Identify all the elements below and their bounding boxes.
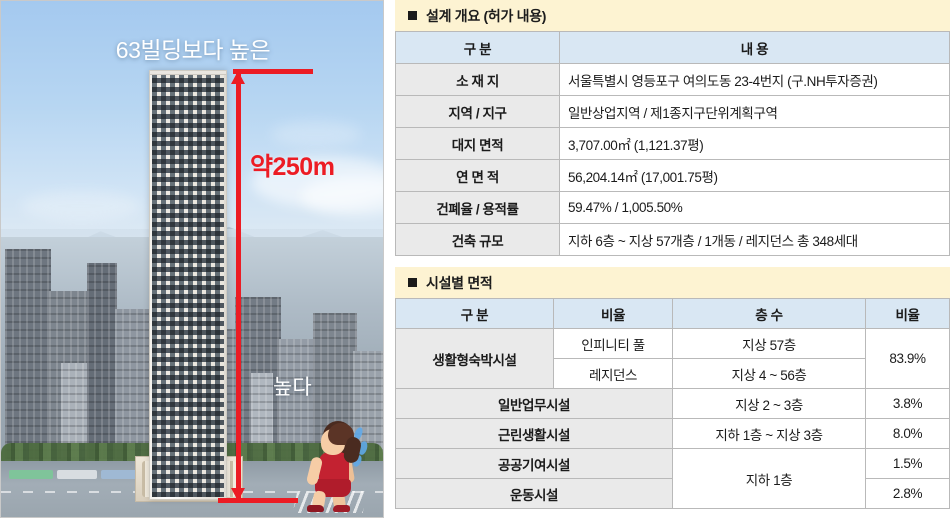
height-measure-line (236, 71, 241, 501)
table-row: 생활형숙박시설 인피니티 풀 지상 57층 83.9% (396, 329, 950, 359)
table-row: 근린생활시설 지하 1층 ~ 지상 3층 8.0% (396, 419, 950, 449)
table-row: 대지 면적 3,707.00㎡ (1,121.37평) (396, 128, 950, 160)
table-row: 공공기여시설 지하 1층 1.5% (396, 449, 950, 479)
tall-caption: 높다 (273, 371, 312, 401)
table-row: 건축 규모 지하 6층 ~ 지상 57개층 / 1개동 / 레지던스 총 348… (396, 224, 950, 256)
row-floors: 지상 57층 (673, 329, 866, 359)
render-headline: 63빌딩보다 높은 (1, 31, 384, 65)
row-label-facility: 생활형숙박시설 (396, 329, 554, 389)
table-row: 연 면 적 56,204.14㎡ (17,001.75평) (396, 160, 950, 192)
row-value: 59.47% / 1,005.50% (560, 192, 950, 224)
row-label-facility: 근린생활시설 (396, 419, 673, 449)
row-ratio: 8.0% (866, 419, 950, 449)
row-floors: 지상 2 ~ 3층 (673, 389, 866, 419)
tower-roof (150, 71, 226, 75)
row-label: 건폐율 / 용적률 (396, 192, 560, 224)
background-building (87, 263, 117, 459)
row-value: 서울특별시 영등포구 여의도동 23-4번지 (구.NH투자증권) (560, 64, 950, 96)
girl-shoe-back (333, 505, 350, 512)
row-label-facility: 공공기여시설 (396, 449, 673, 479)
girl-shoe-front (307, 505, 324, 512)
background-building (5, 249, 51, 459)
row-value: 3,707.00㎡ (1,121.37평) (560, 128, 950, 160)
row-ratio: 3.8% (866, 389, 950, 419)
background-building (115, 309, 149, 459)
table-row: 소 재 지 서울특별시 영등포구 여의도동 23-4번지 (구.NH투자증권) (396, 64, 950, 96)
row-label: 지역 / 지구 (396, 96, 560, 128)
col-header-subtype: 비율 (554, 299, 673, 329)
cartoon-girl (301, 419, 369, 515)
col-header-category: 구 분 (396, 32, 560, 64)
height-top-tick (233, 69, 313, 74)
row-value: 56,204.14㎡ (17,001.75평) (560, 160, 950, 192)
col-header-category: 구 분 (396, 299, 554, 329)
row-ratio: 2.8% (866, 479, 950, 509)
arrow-up-icon (231, 71, 245, 84)
row-floors: 지하 1층 (673, 449, 866, 509)
design-overview-title: 설계 개요 (허가 내용) (426, 6, 546, 26)
table-header-row: 구 분 내 용 (396, 32, 950, 64)
table-header-row: 구 분 비율 층 수 비율 (396, 299, 950, 329)
height-bottom-tick (218, 498, 298, 503)
design-overview-heading: 설계 개요 (허가 내용) (395, 0, 950, 31)
facility-area-table: 구 분 비율 층 수 비율 생활형숙박시설 인피니티 풀 지상 57층 83.9… (395, 298, 950, 509)
section-gap (395, 256, 950, 267)
col-header-content: 내 용 (560, 32, 950, 64)
facility-area-heading: 시설별 면적 (395, 267, 950, 298)
row-label: 건축 규모 (396, 224, 560, 256)
bullet-square-icon (408, 278, 417, 287)
info-tables-panel: 설계 개요 (허가 내용) 구 분 내 용 소 재 지 서울특별시 영등포구 여… (384, 0, 950, 518)
row-floors: 지상 4 ~ 56층 (673, 359, 866, 389)
row-ratio: 1.5% (866, 449, 950, 479)
bus (9, 470, 53, 479)
height-label: 약250m (250, 147, 334, 183)
facility-area-title: 시설별 면적 (426, 273, 493, 293)
row-value: 지하 6층 ~ 지상 57개층 / 1개동 / 레지던스 총 348세대 (560, 224, 950, 256)
table-row: 일반업무시설 지상 2 ~ 3층 3.8% (396, 389, 950, 419)
page-root: 약250m 63빌딩보다 높은 높다 설계 개요 (허가 내용 (0, 0, 950, 518)
row-label: 대지 면적 (396, 128, 560, 160)
cloud (271, 121, 361, 147)
row-ratio: 83.9% (866, 329, 950, 389)
bus (101, 470, 137, 479)
row-floors: 지하 1층 ~ 지상 3층 (673, 419, 866, 449)
row-label-facility: 운동시설 (396, 479, 673, 509)
col-header-ratio: 비율 (866, 299, 950, 329)
row-value: 일반상업지역 / 제1종지구단위계획구역 (560, 96, 950, 128)
main-tower (149, 70, 227, 500)
row-label: 소 재 지 (396, 64, 560, 96)
cloud (21, 191, 141, 221)
bus (57, 470, 97, 479)
table-row: 건폐율 / 용적률 59.47% / 1,005.50% (396, 192, 950, 224)
row-label-facility: 일반업무시설 (396, 389, 673, 419)
tower-facade (152, 73, 224, 497)
bullet-square-icon (408, 11, 417, 20)
row-label: 연 면 적 (396, 160, 560, 192)
building-render-image: 약250m 63빌딩보다 높은 높다 (0, 0, 384, 518)
table-row: 지역 / 지구 일반상업지역 / 제1종지구단위계획구역 (396, 96, 950, 128)
row-subtype: 레지던스 (554, 359, 673, 389)
col-header-floors: 층 수 (673, 299, 866, 329)
design-overview-table: 구 분 내 용 소 재 지 서울특별시 영등포구 여의도동 23-4번지 (구.… (395, 31, 950, 256)
row-subtype: 인피니티 풀 (554, 329, 673, 359)
